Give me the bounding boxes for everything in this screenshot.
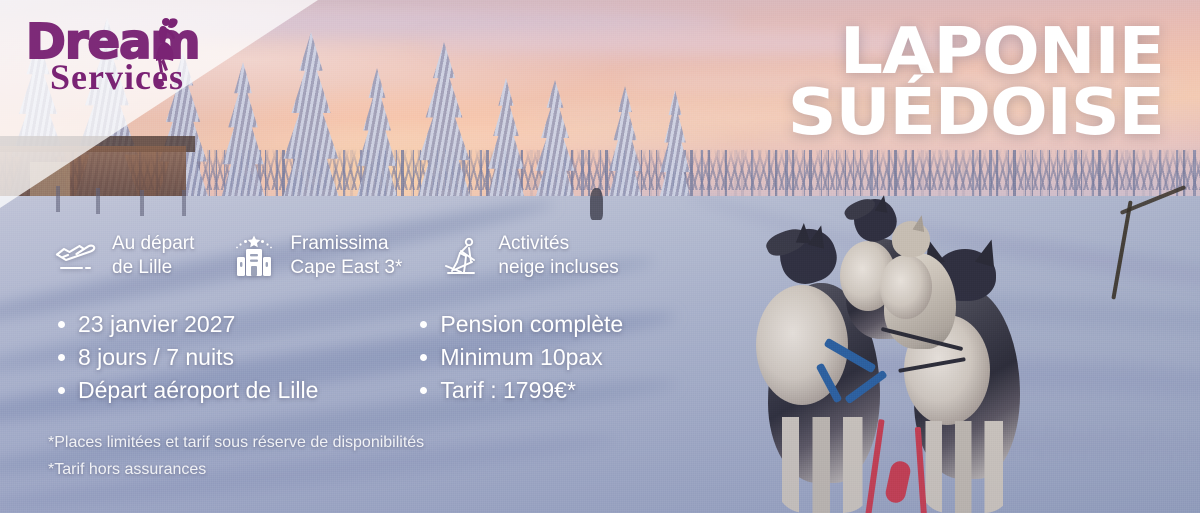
feature-departure-line2: de Lille — [112, 257, 172, 278]
footnote-availability: *Places limitées et tarif sous réserve d… — [48, 430, 424, 457]
feature-activities-line2: neige incluses — [498, 257, 618, 278]
feature-row: Au départ de Lille — [52, 232, 619, 280]
cross-country-skier-icon — [438, 232, 486, 280]
fence-post — [182, 190, 186, 216]
feature-departure-line1: Au départ — [112, 233, 194, 254]
hotel-stars-icon — [230, 232, 278, 280]
brand-logo[interactable]: Dream Services — [26, 14, 226, 94]
husky-dog — [880, 215, 964, 355]
feature-activities-text: Activités neige incluses — [498, 232, 618, 279]
page-title: LAPONIE SUÉDOISE — [788, 22, 1164, 145]
airplane-takeoff-icon — [52, 232, 100, 280]
feature-activities: Activités neige incluses — [438, 232, 618, 280]
husky-sled-team — [730, 183, 1200, 513]
feature-hotel: Framissima Cape East 3* — [230, 232, 402, 280]
bullet-column-left: 23 janvier 2027 8 jours / 7 nuits Départ… — [56, 308, 318, 407]
logo-dot — [157, 80, 164, 87]
fence-post — [140, 190, 144, 216]
dancer-silhouette-icon — [146, 16, 180, 80]
footnotes: *Places limitées et tarif sous réserve d… — [48, 430, 424, 484]
list-item: Minimum 10pax — [418, 341, 623, 374]
feature-hotel-text: Framissima Cape East 3* — [290, 232, 402, 279]
list-item: 23 janvier 2027 — [56, 308, 318, 341]
travel-promo-banner: Dream Services LAPONIE SUÉDOISE — [0, 0, 1200, 513]
fence-post — [96, 188, 100, 214]
feature-activities-line1: Activités — [498, 233, 569, 254]
feature-departure-text: Au départ de Lille — [112, 232, 194, 279]
feature-departure: Au départ de Lille — [52, 232, 194, 280]
fence-post — [56, 186, 60, 212]
feature-hotel-line2: Cape East 3* — [290, 257, 402, 278]
distant-person — [590, 188, 603, 220]
feature-hotel-line1: Framissima — [290, 233, 388, 254]
list-item: 8 jours / 7 nuits — [56, 341, 318, 374]
list-item: Pension complète — [418, 308, 623, 341]
offer-details: 23 janvier 2027 8 jours / 7 nuits Départ… — [56, 308, 623, 407]
title-line-2: SUÉDOISE — [788, 83, 1164, 144]
bullet-column-right: Pension complète Minimum 10pax Tarif : 1… — [418, 308, 623, 407]
list-item: Tarif : 1799€* — [418, 374, 623, 407]
list-item: Départ aéroport de Lille — [56, 374, 318, 407]
footnote-insurance: *Tarif hors assurances — [48, 457, 424, 484]
